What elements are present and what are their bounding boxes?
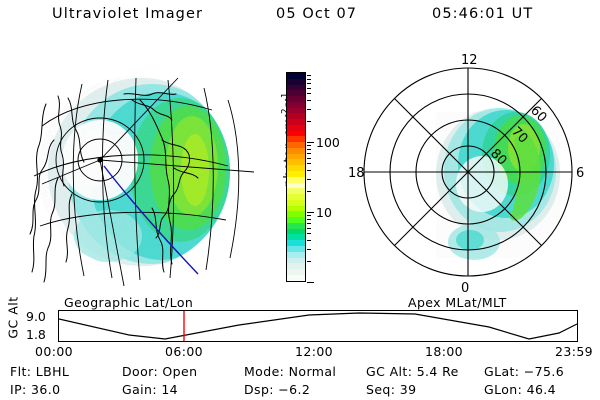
time-tick-label: 18:00 [425,344,463,359]
status-field: GC Alt: 5.4 Re [366,364,459,379]
colorbar-minor-tick [307,223,311,224]
mlt-label-6: 6 [576,166,584,181]
page-title: Ultraviolet Imager [52,6,203,22]
colorbar-minor-tick [307,149,311,150]
geographic-globe-panel[interactable] [12,48,264,296]
status-field: Dsp: −6.2 [244,382,310,397]
polar-grid [364,68,572,276]
colorbar-minor-tick [307,215,311,216]
aurora-oval-data [436,108,560,260]
right-panel-title: Apex MLat/MLT [408,295,507,310]
orbit-ytick-max: 9.0 [26,309,46,324]
colorbar-minor-tick [307,179,311,180]
colorbar-minor-tick [307,145,311,146]
colorbar-minor-tick [307,142,314,143]
orbit-plot-box[interactable] [58,310,578,342]
status-field: GLon: 46.4 [484,382,556,397]
status-field: IP: 36.0 [10,382,60,397]
observation-date: 05 Oct 07 [276,6,357,22]
colorbar-gradient [286,72,306,282]
colorbar-panel: photon cm-2s-1 10010 [264,48,348,296]
observation-time: 05:46:01 UT [432,6,533,22]
colorbar-minor-tick [307,93,311,94]
orbit-ylabel: GC Alt [6,292,21,344]
colorbar-minor-tick [307,75,311,76]
colorbar-minor-tick [307,153,311,154]
colorbar-minor-tick [307,191,311,192]
time-tick-label: 00:00 [35,344,73,359]
colorbar-minor-tick [307,88,311,89]
colorbar-minor-tick [307,240,311,241]
status-field: Gain: 14 [122,382,178,397]
colorbar-minor-tick [307,249,311,250]
time-tick-label: 06:00 [165,344,203,359]
status-field: Flt: LBHL [10,364,69,379]
globe-image [12,48,264,296]
colorbar-tick-label: 100 [316,142,340,143]
colorbar-minor-tick [307,100,311,101]
colorbar-minor-tick [307,170,311,171]
colorbar-minor-tick [307,163,311,164]
mlt-label-18: 18 [348,166,365,181]
polar-plot-image: 12 6 0 18 60 70 80 [348,48,592,296]
colorbar-minor-tick [307,158,311,159]
colorbar-tick-label: 10 [316,212,332,213]
time-tick-label: 23:59 [555,344,593,359]
header-bar: Ultraviolet Imager 05 Oct 07 05:46:01 UT [0,6,600,32]
colorbar-minor-tick [307,228,311,229]
status-field: Door: Open [122,364,197,379]
colorbar-band [287,275,305,281]
colorbar-minor-tick [307,261,311,262]
apex-polar-panel[interactable]: 12 6 0 18 60 70 80 [348,48,592,296]
colorbar-minor-tick [307,282,314,283]
time-axis-labels: 00:0006:0012:0018:0023:59 [0,344,600,360]
status-field: Seq: 39 [366,382,416,397]
colorbar-minor-tick [307,83,311,84]
colorbar-minor-tick [307,79,311,80]
status-field: GLat: −75.6 [484,364,564,379]
orbit-ytick-min: 1.8 [26,327,46,342]
mlt-label-0: 0 [461,281,469,296]
left-panel-title: Geographic Lat/Lon [64,295,193,310]
status-field: Mode: Normal [244,364,336,379]
colorbar-minor-tick [307,219,311,220]
status-panel: Flt: LBHLDoor: OpenMode: NormalGC Alt: 5… [0,364,600,400]
mlt-label-12: 12 [461,53,478,68]
colorbar-minor-tick [307,121,311,122]
colorbar-minor-tick [307,109,311,110]
time-tick-label: 12:00 [295,344,333,359]
colorbar-minor-tick [307,212,314,213]
orbit-altitude-curve [59,311,577,341]
colorbar-minor-tick [307,233,311,234]
